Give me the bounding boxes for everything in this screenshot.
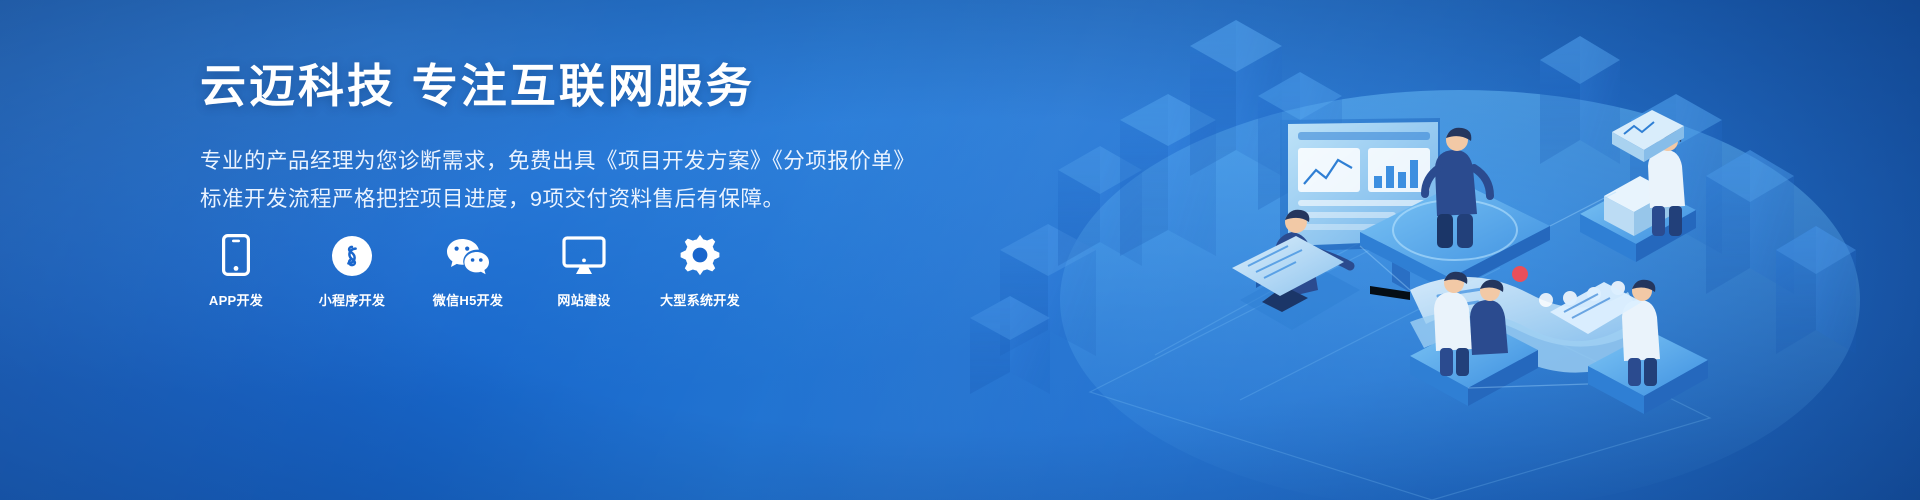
monitor-icon — [562, 232, 606, 276]
page-title: 云迈科技 专注互联网服务 — [200, 60, 900, 113]
service-item-large-system[interactable]: 大型系统开发 — [664, 232, 736, 309]
hero-content: 云迈科技 专注互联网服务 专业的产品经理为您诊断需求，免费出具《项目开发方案》《… — [200, 60, 900, 217]
phone-icon — [222, 232, 250, 276]
hero-illustration — [940, 0, 1920, 500]
service-list: APP开发 小程序开发 — [200, 232, 736, 309]
service-item-app[interactable]: APP开发 — [200, 232, 272, 309]
service-item-miniprogram[interactable]: 小程序开发 — [316, 232, 388, 309]
service-label: APP开发 — [209, 290, 263, 309]
service-label: 网站建设 — [557, 290, 610, 309]
service-label: 微信H5开发 — [433, 290, 503, 309]
service-label: 大型系统开发 — [660, 290, 740, 309]
subtitle-line-2: 标准开发流程严格把控项目进度，9项交付资料售后有保障。 — [200, 181, 900, 217]
wechat-icon — [445, 232, 491, 276]
miniprogram-icon — [332, 232, 372, 276]
service-item-website[interactable]: 网站建设 — [548, 232, 620, 309]
hero-banner: 云迈科技 专注互联网服务 专业的产品经理为您诊断需求，免费出具《项目开发方案》《… — [0, 0, 1920, 500]
service-item-wechat-h5[interactable]: 微信H5开发 — [432, 232, 504, 309]
gear-icon — [679, 232, 721, 276]
subtitle-line-1: 专业的产品经理为您诊断需求，免费出具《项目开发方案》《分项报价单》 — [200, 143, 900, 179]
service-label: 小程序开发 — [319, 290, 386, 309]
